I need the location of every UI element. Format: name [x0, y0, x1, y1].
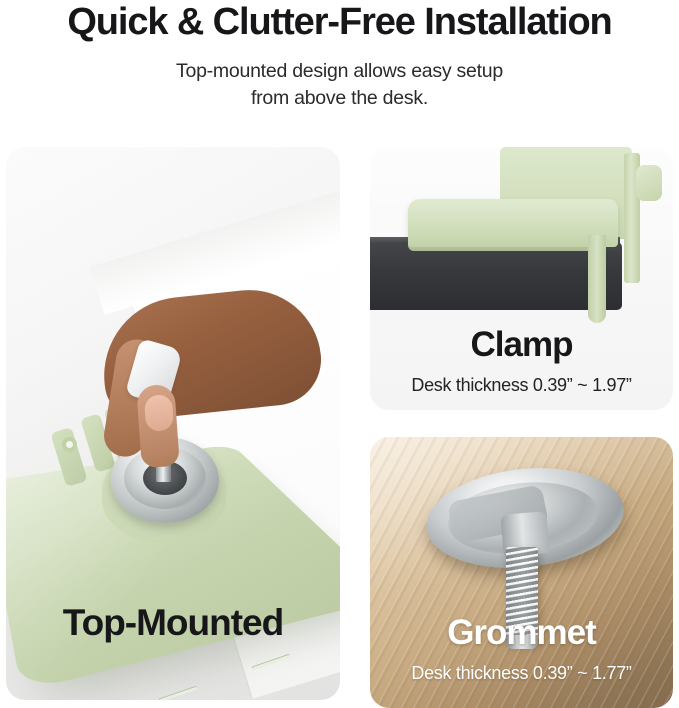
clamp-knob — [636, 165, 662, 201]
desk-slab — [370, 242, 622, 310]
page-title: Quick & Clutter-Free Installation — [0, 0, 679, 46]
base-plate-slot — [158, 686, 197, 700]
caption-clamp: Clamp — [370, 325, 673, 365]
spec-clamp: Desk thickness 0.39” ~ 1.97” — [370, 375, 673, 396]
panel-clamp: Clamp Desk thickness 0.39” ~ 1.97” — [370, 147, 673, 410]
cable-clip-eyelet — [62, 437, 77, 452]
clamp-pad — [408, 243, 598, 251]
page-subtitle-line-1: Top-mounted design allows easy setup — [0, 58, 679, 85]
clamp-arm — [408, 199, 618, 247]
thumb-nail — [144, 394, 174, 431]
page-subtitle-line-2: from above the desk. — [0, 85, 679, 112]
caption-grommet: Grommet — [370, 613, 673, 653]
caption-top-mounted: Top-Mounted — [6, 602, 340, 644]
clamp-foot — [588, 235, 606, 323]
spec-grommet: Desk thickness 0.39” ~ 1.77” — [370, 663, 673, 684]
infographic-root: Quick & Clutter-Free Installation Top-mo… — [0, 0, 679, 708]
panel-top-mounted: Top-Mounted — [6, 147, 340, 700]
panel-grommet: Grommet Desk thickness 0.39” ~ 1.77” — [370, 437, 673, 708]
page-subtitle: Top-mounted design allows easy setup fro… — [0, 58, 679, 112]
